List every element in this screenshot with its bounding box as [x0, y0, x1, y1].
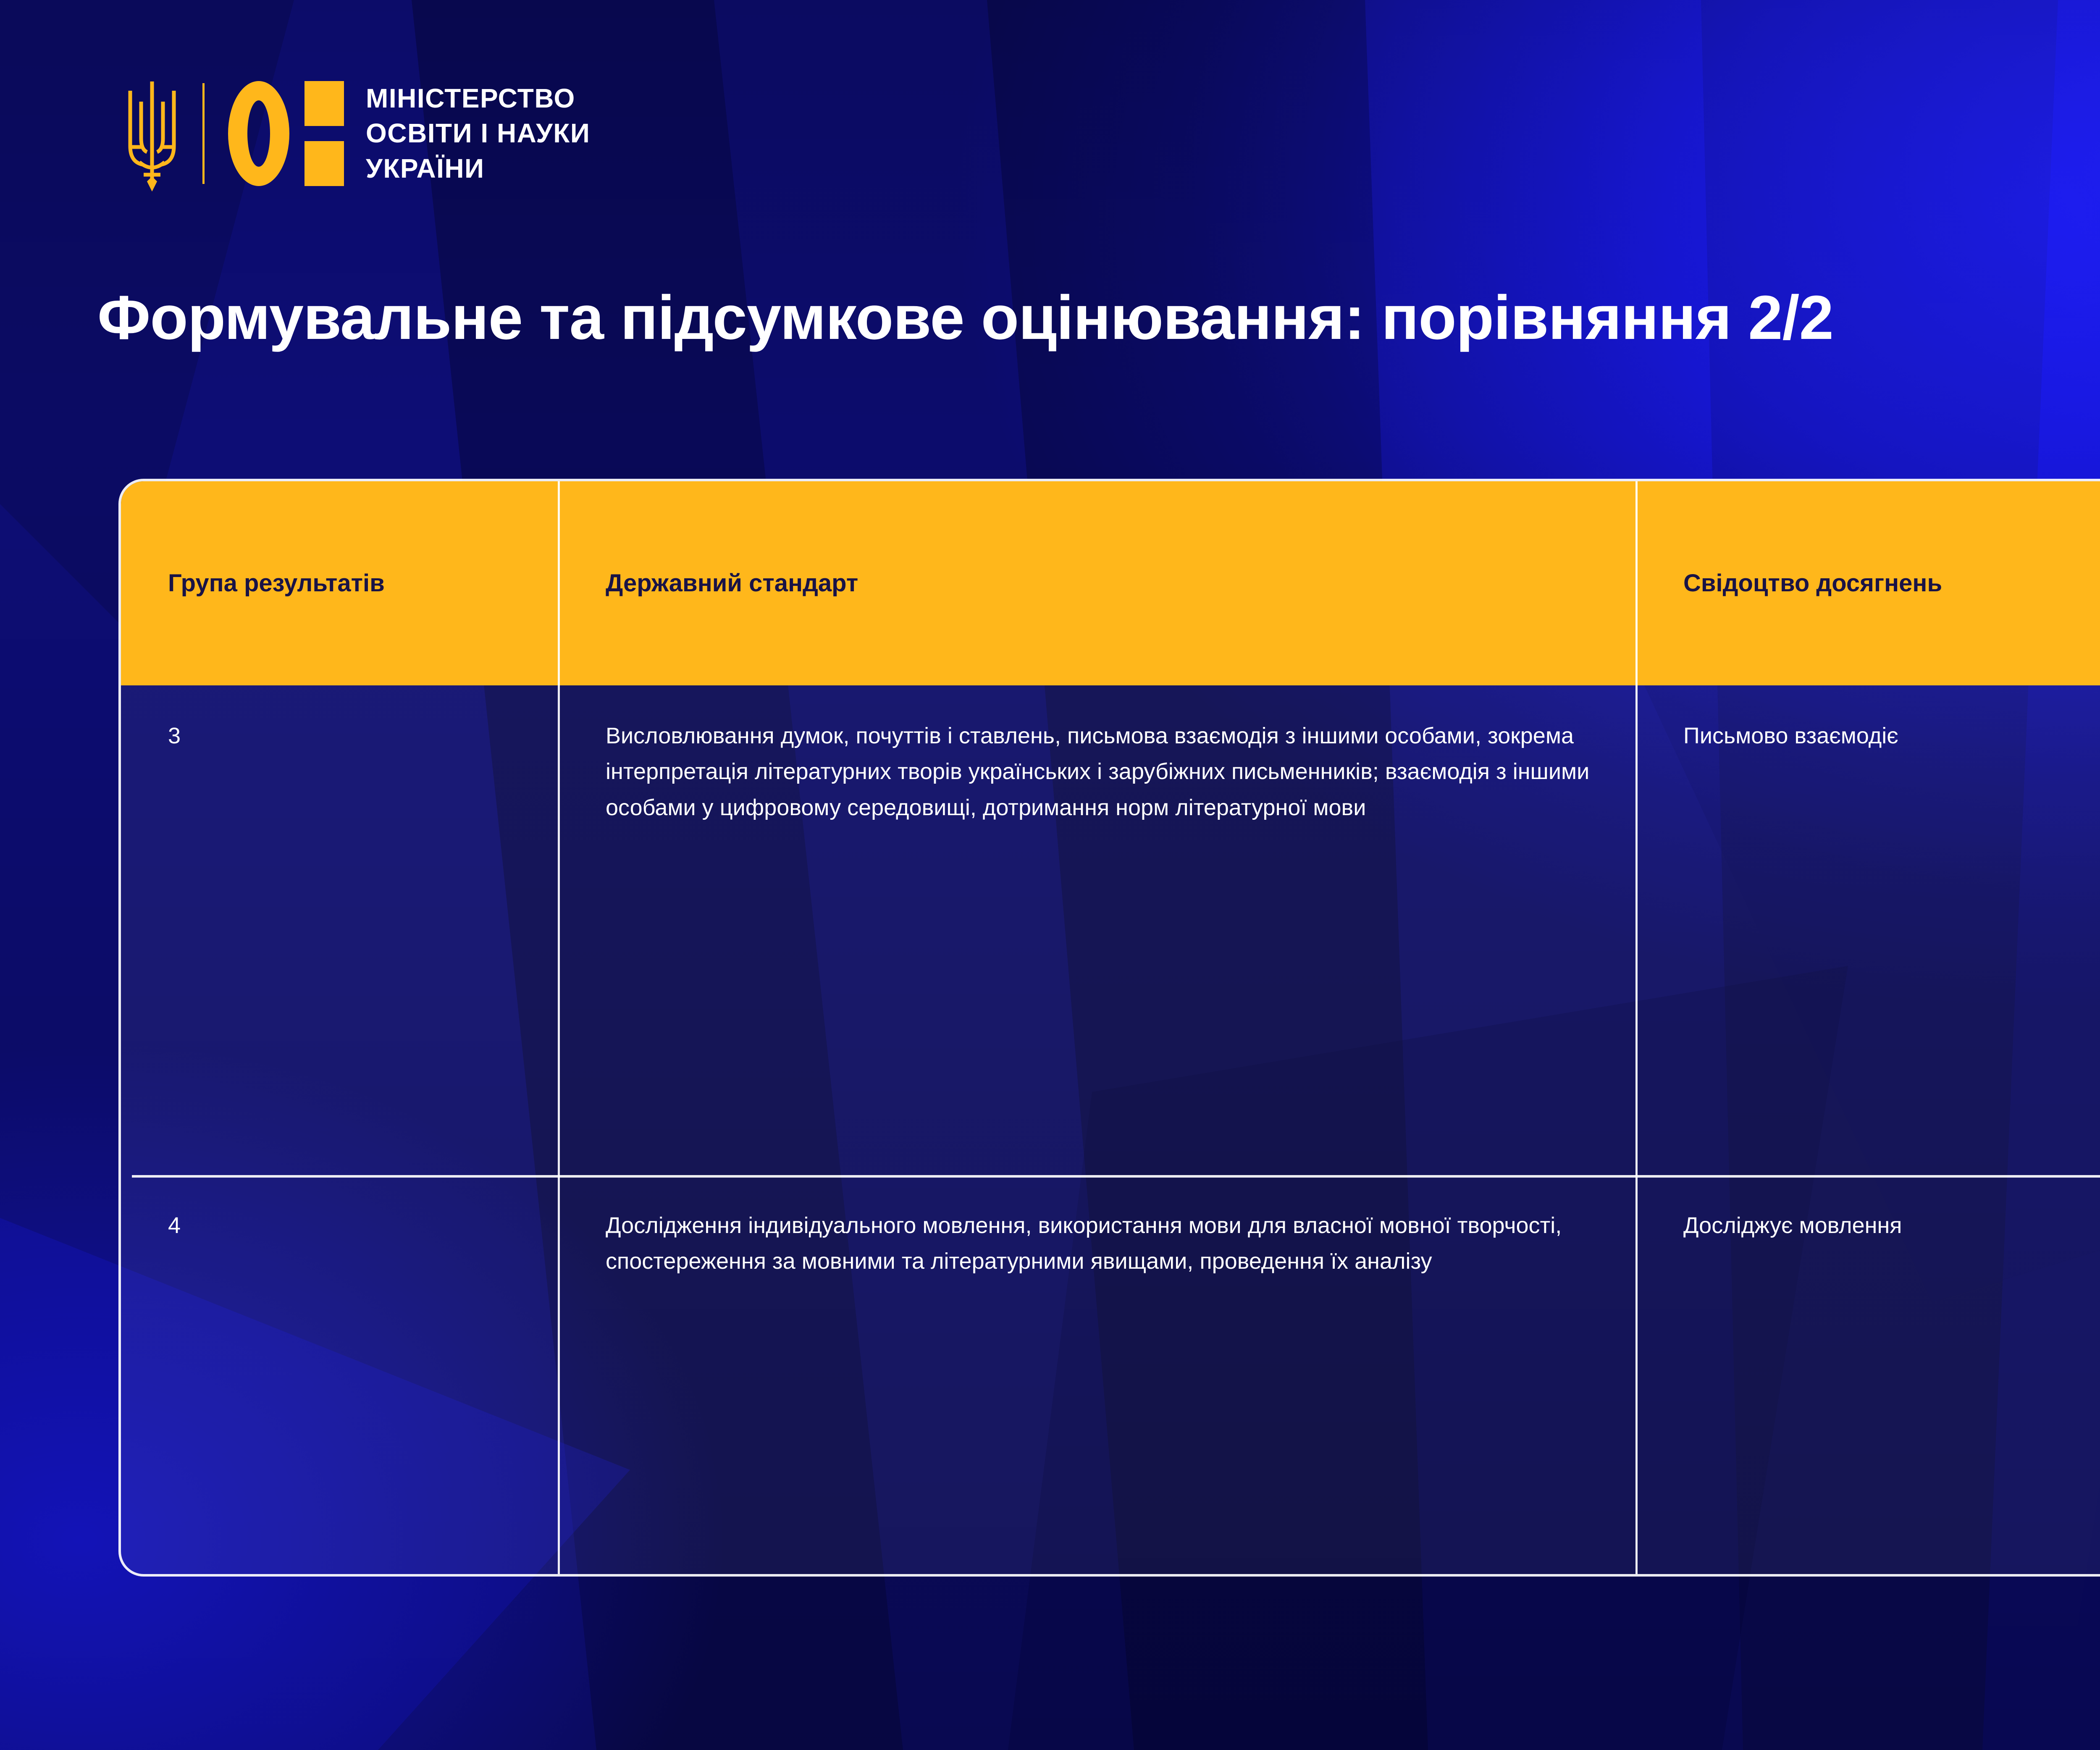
- mon-logo-line-1: МІНІСТЕРСТВО: [366, 81, 590, 116]
- table-header-certificate: Свідоцтво досягнень: [1636, 481, 2100, 685]
- table-body: 3 Висловлювання думок, почуттів і ставле…: [121, 685, 2100, 1577]
- cell-group: 3: [121, 685, 559, 1175]
- cell-certificate: Досліджує мовлення: [1636, 1175, 2100, 1577]
- logo-divider: [202, 83, 205, 184]
- slide-root: МІНІСТЕРСТВО ОСВІТИ І НАУКИ УКРАЇНИ Форм…: [0, 0, 2100, 1750]
- comparison-table: Група результатів Державний стандарт Сві…: [118, 479, 2100, 1577]
- cell-standard: Дослідження індивідуального мовлення, ви…: [559, 1175, 1636, 1577]
- mon-logo-line-2: ОСВІТИ І НАУКИ: [366, 116, 590, 151]
- table-column-divider-2: [1635, 481, 1638, 1574]
- page-title: Формувальне та підсумкове оцінювання: по…: [97, 282, 1833, 354]
- cell-certificate: Письмово взаємодіє: [1636, 685, 2100, 1175]
- mon-mark-icon: [228, 81, 344, 186]
- mon-logo: МІНІСТЕРСТВО ОСВІТИ І НАУКИ УКРАЇНИ: [121, 76, 590, 192]
- mon-logo-text: МІНІСТЕРСТВО ОСВІТИ І НАУКИ УКРАЇНИ: [366, 81, 590, 186]
- table-header-group: Група результатів: [121, 481, 559, 685]
- table-row-divider: [132, 1175, 2100, 1178]
- ukraine-trident-icon: [121, 76, 183, 192]
- table-header-standard: Державний стандарт: [559, 481, 1636, 685]
- mon-colon-icon: [304, 81, 344, 186]
- table-row: 4 Дослідження індивідуального мовлення, …: [121, 1175, 2100, 1577]
- mon-letter-o-icon: [228, 81, 289, 186]
- table-row: 3 Висловлювання думок, почуттів і ставле…: [121, 685, 2100, 1175]
- cell-standard: Висловлювання думок, почуттів і ставлень…: [559, 685, 1636, 1175]
- mon-logo-line-3: УКРАЇНИ: [366, 151, 590, 186]
- cell-group: 4: [121, 1175, 559, 1577]
- table-column-divider-1: [558, 481, 560, 1574]
- table-header-row: Група результатів Державний стандарт Сві…: [121, 481, 2100, 685]
